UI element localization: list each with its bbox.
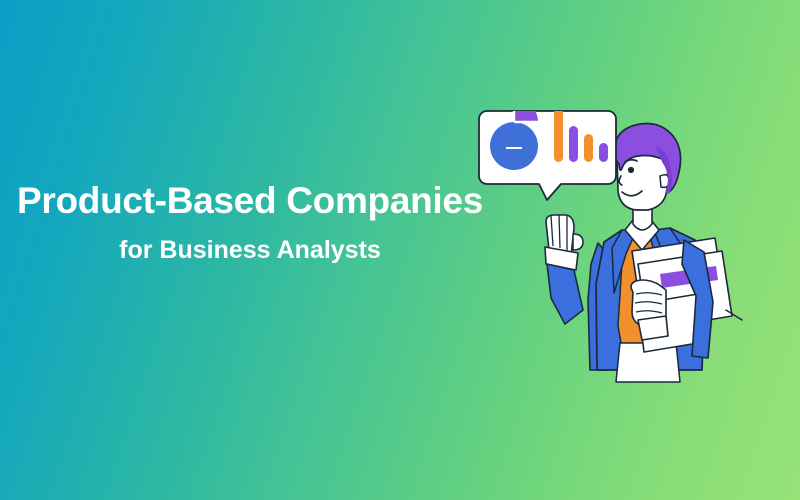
lightbulb-pie-icon [490, 98, 538, 170]
grip-cuff [638, 316, 668, 340]
sleeve-left [547, 264, 583, 324]
bar-4 [599, 143, 608, 162]
text-block: Product-Based Companies for Business Ana… [0, 178, 500, 266]
bar-1 [554, 108, 563, 162]
eye [628, 167, 634, 173]
illustration [470, 88, 760, 388]
waving-hand [545, 215, 583, 324]
bar-2 [569, 126, 578, 162]
bar-3 [584, 134, 593, 162]
speech-bubble [479, 98, 616, 200]
page-subtitle: for Business Analysts [0, 224, 500, 266]
promo-banner: Product-Based Companies for Business Ana… [0, 0, 800, 500]
page-title: Product-Based Companies [0, 178, 500, 224]
